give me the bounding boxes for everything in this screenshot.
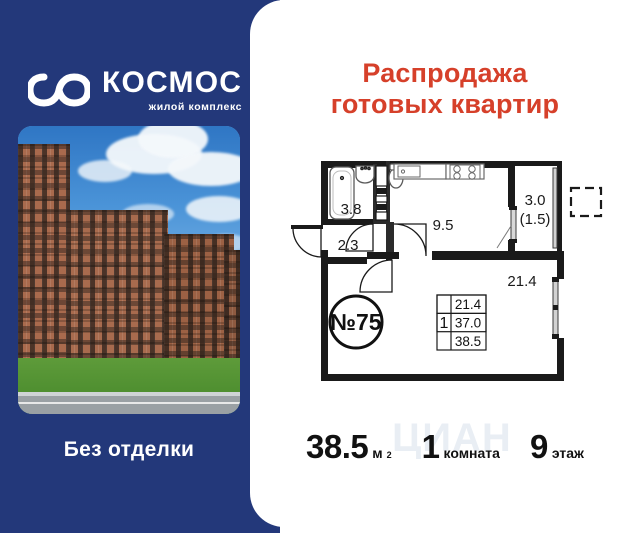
bathtub-drain: [340, 176, 343, 179]
stat-rooms: 1 комната: [422, 428, 500, 466]
infinity-icon: [28, 71, 90, 109]
finish-caption: Без отделки: [0, 438, 258, 462]
building-block: [66, 210, 168, 380]
stat-floor-value: 9: [530, 428, 548, 466]
wall: [321, 374, 564, 381]
stat-area-value: 38.5: [306, 428, 368, 466]
shaft: [376, 166, 387, 186]
listing-card: КОСМОС жилой комплекс Без отделки Распр: [0, 0, 640, 533]
apartment-number-label: №75: [330, 309, 381, 335]
floor-plan[interactable]: №75 3.8 2.3 9.5 21.4 3.0 (1.5) 1 21.4 37…: [290, 152, 610, 392]
wall: [386, 222, 394, 252]
wall: [515, 161, 561, 166]
brand-tagline: жилой комплекс: [102, 102, 242, 113]
area-living-room: 21.4: [507, 273, 536, 290]
door-kitchen: [394, 224, 426, 256]
balcony-glazing: [553, 168, 557, 248]
road: [18, 396, 240, 414]
balcony-door: [511, 207, 516, 241]
stat-area-unit: м: [372, 445, 382, 461]
stat-floor: 9 этаж: [530, 428, 584, 466]
cloud: [78, 160, 132, 182]
shaft: [376, 212, 387, 220]
plan-legend: 1 21.4 37.0 38.5: [437, 295, 486, 350]
brand-logo: КОСМОС жилой комплекс: [28, 64, 240, 116]
wall: [321, 161, 328, 225]
wall: [508, 161, 515, 207]
promo-headline-line1: Распродажа: [250, 58, 640, 89]
listing-stats: 38.5 м2 1 комната 9 этаж: [250, 428, 640, 476]
wall: [557, 161, 562, 251]
brand-panel: КОСМОС жилой комплекс Без отделки: [0, 0, 280, 533]
area-kitchen: 9.5: [433, 217, 454, 234]
stat-rooms-value: 1: [422, 428, 440, 466]
wall: [557, 338, 564, 381]
area-hallway: 2.3: [338, 237, 359, 254]
stat-area-sup: 2: [387, 450, 392, 460]
wall: [321, 257, 328, 381]
area-bathroom: 3.8: [341, 201, 362, 218]
floor-plan-svg: №75 3.8 2.3 9.5 21.4 3.0 (1.5) 1 21.4 37…: [290, 152, 610, 392]
legend-total-area: 38.5: [455, 334, 481, 349]
promo-headline: Распродажа готовых квартир: [250, 58, 640, 121]
brand-name: КОСМОС: [102, 68, 242, 98]
shaft: [376, 204, 387, 210]
door-entrance: [293, 227, 321, 257]
stat-floor-unit: этаж: [552, 445, 584, 461]
area-balcony: 3.0: [525, 192, 546, 209]
building-photo: [18, 126, 240, 414]
wall: [321, 219, 373, 225]
stat-area: 38.5 м2: [306, 428, 392, 466]
legend-living-area: 21.4: [455, 297, 482, 312]
shaft: [376, 196, 387, 202]
stat-rooms-unit: комната: [444, 445, 500, 461]
wall: [557, 257, 564, 279]
door-living-room: [360, 260, 392, 292]
orientation-marker: [571, 188, 601, 216]
legend-rooms-count: 1: [440, 315, 449, 332]
wall: [432, 251, 564, 260]
area-balcony-coef: (1.5): [520, 211, 551, 228]
promo-headline-line2: готовых квартир: [250, 89, 640, 120]
building-tower: [18, 144, 70, 380]
shaft: [376, 188, 387, 194]
legend-area-without-balcony: 37.0: [455, 316, 481, 331]
wall: [367, 252, 399, 259]
